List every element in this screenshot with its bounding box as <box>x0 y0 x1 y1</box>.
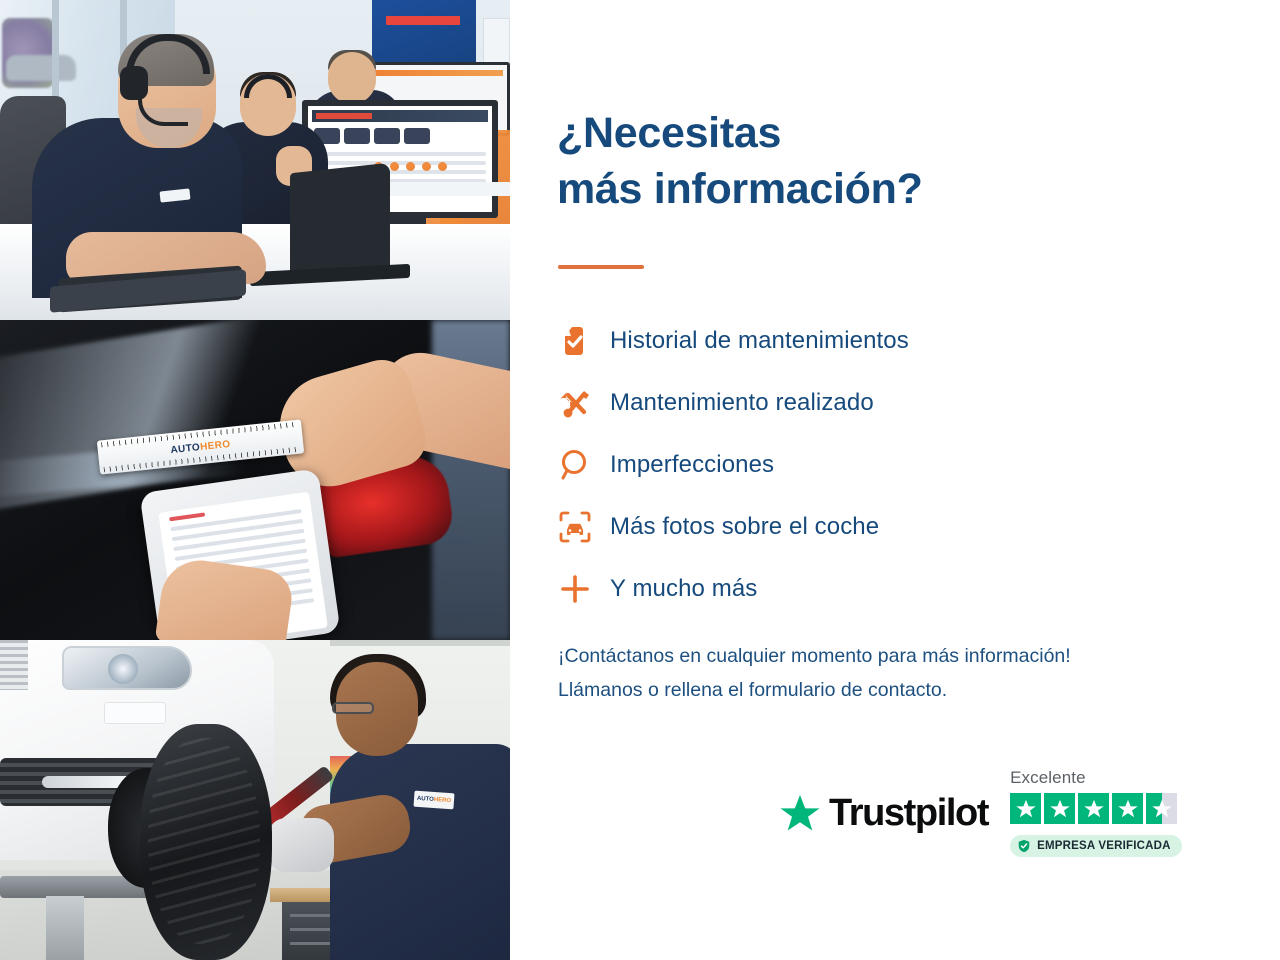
tire-tread <box>148 738 260 944</box>
promo-banner: AUTOHERO AUTOH <box>0 0 1280 960</box>
contact-paragraph: ¡Contáctanos en cualquier momento para m… <box>558 640 1238 707</box>
list-item: Más fotos sobre el coche <box>558 496 1188 558</box>
accent-divider <box>558 265 644 269</box>
photo-call-center-agents-with-headsets <box>0 0 510 320</box>
photo-autohero-ruler-measuring-car-body-with-tablet: AUTOHERO <box>0 320 510 640</box>
plus-icon <box>558 572 610 606</box>
laptop-screen <box>290 163 390 282</box>
star-filled <box>1112 793 1143 824</box>
wall-trim <box>330 640 510 646</box>
car-wheel <box>140 724 272 960</box>
agent-1-earcup <box>120 66 148 100</box>
magnifier-icon <box>558 448 610 482</box>
license-plate <box>104 702 166 724</box>
content-panel: ¿Necesitas más información? Historial de… <box>510 0 1280 960</box>
mechanic-glasses <box>332 702 374 714</box>
car-grille <box>0 640 28 690</box>
monitor-browser-bar <box>312 110 488 122</box>
photo-column: AUTOHERO AUTOH <box>0 0 510 960</box>
agent-3-head <box>328 52 376 104</box>
trustpilot-widget[interactable]: Trustpilot Excelente <box>778 768 1182 857</box>
list-item-label: Historial de mantenimientos <box>610 327 909 355</box>
trustpilot-star-icon <box>778 793 822 835</box>
list-item: Y mucho más <box>558 558 1188 620</box>
star-filled <box>1078 793 1109 824</box>
trustpilot-rating: Excelente <box>1010 768 1182 857</box>
verified-business-badge: EMPRESA VERIFICADA <box>1010 835 1182 857</box>
shield-check-icon <box>1017 839 1031 853</box>
verified-label: EMPRESA VERIFICADA <box>1037 840 1171 852</box>
feature-list: Historial de mantenimientos Mantenimient… <box>558 310 1188 620</box>
list-item-label: Más fotos sobre el coche <box>610 513 879 541</box>
star-filled <box>1044 793 1075 824</box>
car-headlight <box>62 646 192 690</box>
heading-line-1: ¿Necesitas <box>557 109 781 157</box>
autohero-polo-logo: AUTOHERO <box>413 791 454 810</box>
tools-wrench-screwdriver-icon <box>558 385 610 421</box>
star-rating <box>1010 793 1182 824</box>
lift-post <box>46 896 84 960</box>
photo-mechanic-removing-wheel-from-white-car-on-lift: AUTOHERO <box>0 640 510 960</box>
trustpilot-wordmark: Trustpilot <box>829 792 988 835</box>
list-item-label: Mantenimiento realizado <box>610 389 874 417</box>
rating-label: Excelente <box>1010 768 1182 788</box>
contact-line-2: Llámanos o rellena el formulario de cont… <box>558 679 947 701</box>
contact-line-1: ¡Contáctanos en cualquier momento para m… <box>558 645 1071 667</box>
star-filled <box>1010 793 1041 824</box>
list-item: Imperfecciones <box>558 434 1188 496</box>
trustpilot-logo[interactable]: Trustpilot <box>778 792 988 835</box>
list-item-label: Y mucho más <box>610 575 757 603</box>
list-item: Mantenimiento realizado <box>558 372 1188 434</box>
outdoor-car <box>6 55 76 81</box>
car-photo-frame-icon <box>558 510 610 544</box>
list-item: Historial de mantenimientos <box>558 310 1188 372</box>
heading-line-2: más información? <box>557 165 923 213</box>
list-item-label: Imperfecciones <box>610 451 774 479</box>
mechanic-glove <box>268 818 334 872</box>
document-check-icon <box>558 324 610 358</box>
autohero-logo: AUTOHERO <box>170 438 231 455</box>
monitor-car-thumbnails <box>314 128 430 144</box>
page-title: ¿Necesitas más información? <box>557 106 1027 218</box>
star-half <box>1146 793 1177 824</box>
